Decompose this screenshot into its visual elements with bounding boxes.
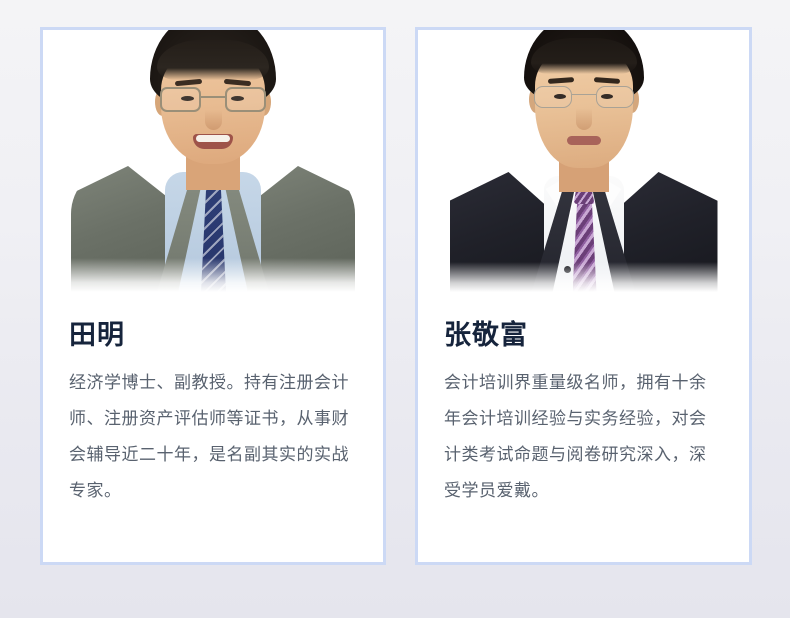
mouth <box>193 134 233 149</box>
teacher-bio: 经济学博士、副教授。持有注册会计师、注册资产评估师等证书，从事财会辅导近二十年，… <box>69 365 357 509</box>
teacher-bio: 会计培训界重量级名师，拥有十余年会计培训经验与实务经验，对会计类考试命题与阅卷研… <box>444 365 723 509</box>
glasses-lens-left <box>534 86 572 108</box>
nose <box>205 110 222 130</box>
teacher-photo <box>418 30 749 292</box>
glasses-bridge <box>572 94 596 95</box>
glasses-bridge <box>201 96 225 98</box>
teacher-name: 田明 <box>69 320 357 351</box>
mouth <box>567 136 601 145</box>
teacher-card[interactable]: 田明 经济学博士、副教授。持有注册会计师、注册资产评估师等证书，从事财会辅导近二… <box>40 27 386 565</box>
portrait-zhang-jingfu <box>418 30 749 292</box>
teacher-card[interactable]: 张敬富 会计培训界重量级名师，拥有十余年会计培训经验与实务经验，对会计类考试命题… <box>415 27 752 565</box>
photo-fade <box>418 262 749 292</box>
glasses-icon <box>534 86 634 110</box>
glasses-lens-right <box>225 87 266 112</box>
teacher-photo <box>43 30 383 292</box>
teacher-name: 张敬富 <box>444 320 723 351</box>
hair-fringe <box>157 40 269 80</box>
hair-fringe <box>531 38 637 74</box>
nose <box>576 108 592 130</box>
teeth <box>196 135 230 142</box>
portrait-tian-ming <box>43 30 383 292</box>
teacher-info: 张敬富 会计培训界重量级名师，拥有十余年会计培训经验与实务经验，对会计类考试命题… <box>418 292 749 509</box>
glasses-lens-right <box>596 86 634 108</box>
photo-fade <box>43 258 383 292</box>
glasses-lens-left <box>160 87 201 112</box>
teacher-profile-page: 田明 经济学博士、副教授。持有注册会计师、注册资产评估师等证书，从事财会辅导近二… <box>0 0 790 618</box>
teacher-info: 田明 经济学博士、副教授。持有注册会计师、注册资产评估师等证书，从事财会辅导近二… <box>43 292 383 509</box>
